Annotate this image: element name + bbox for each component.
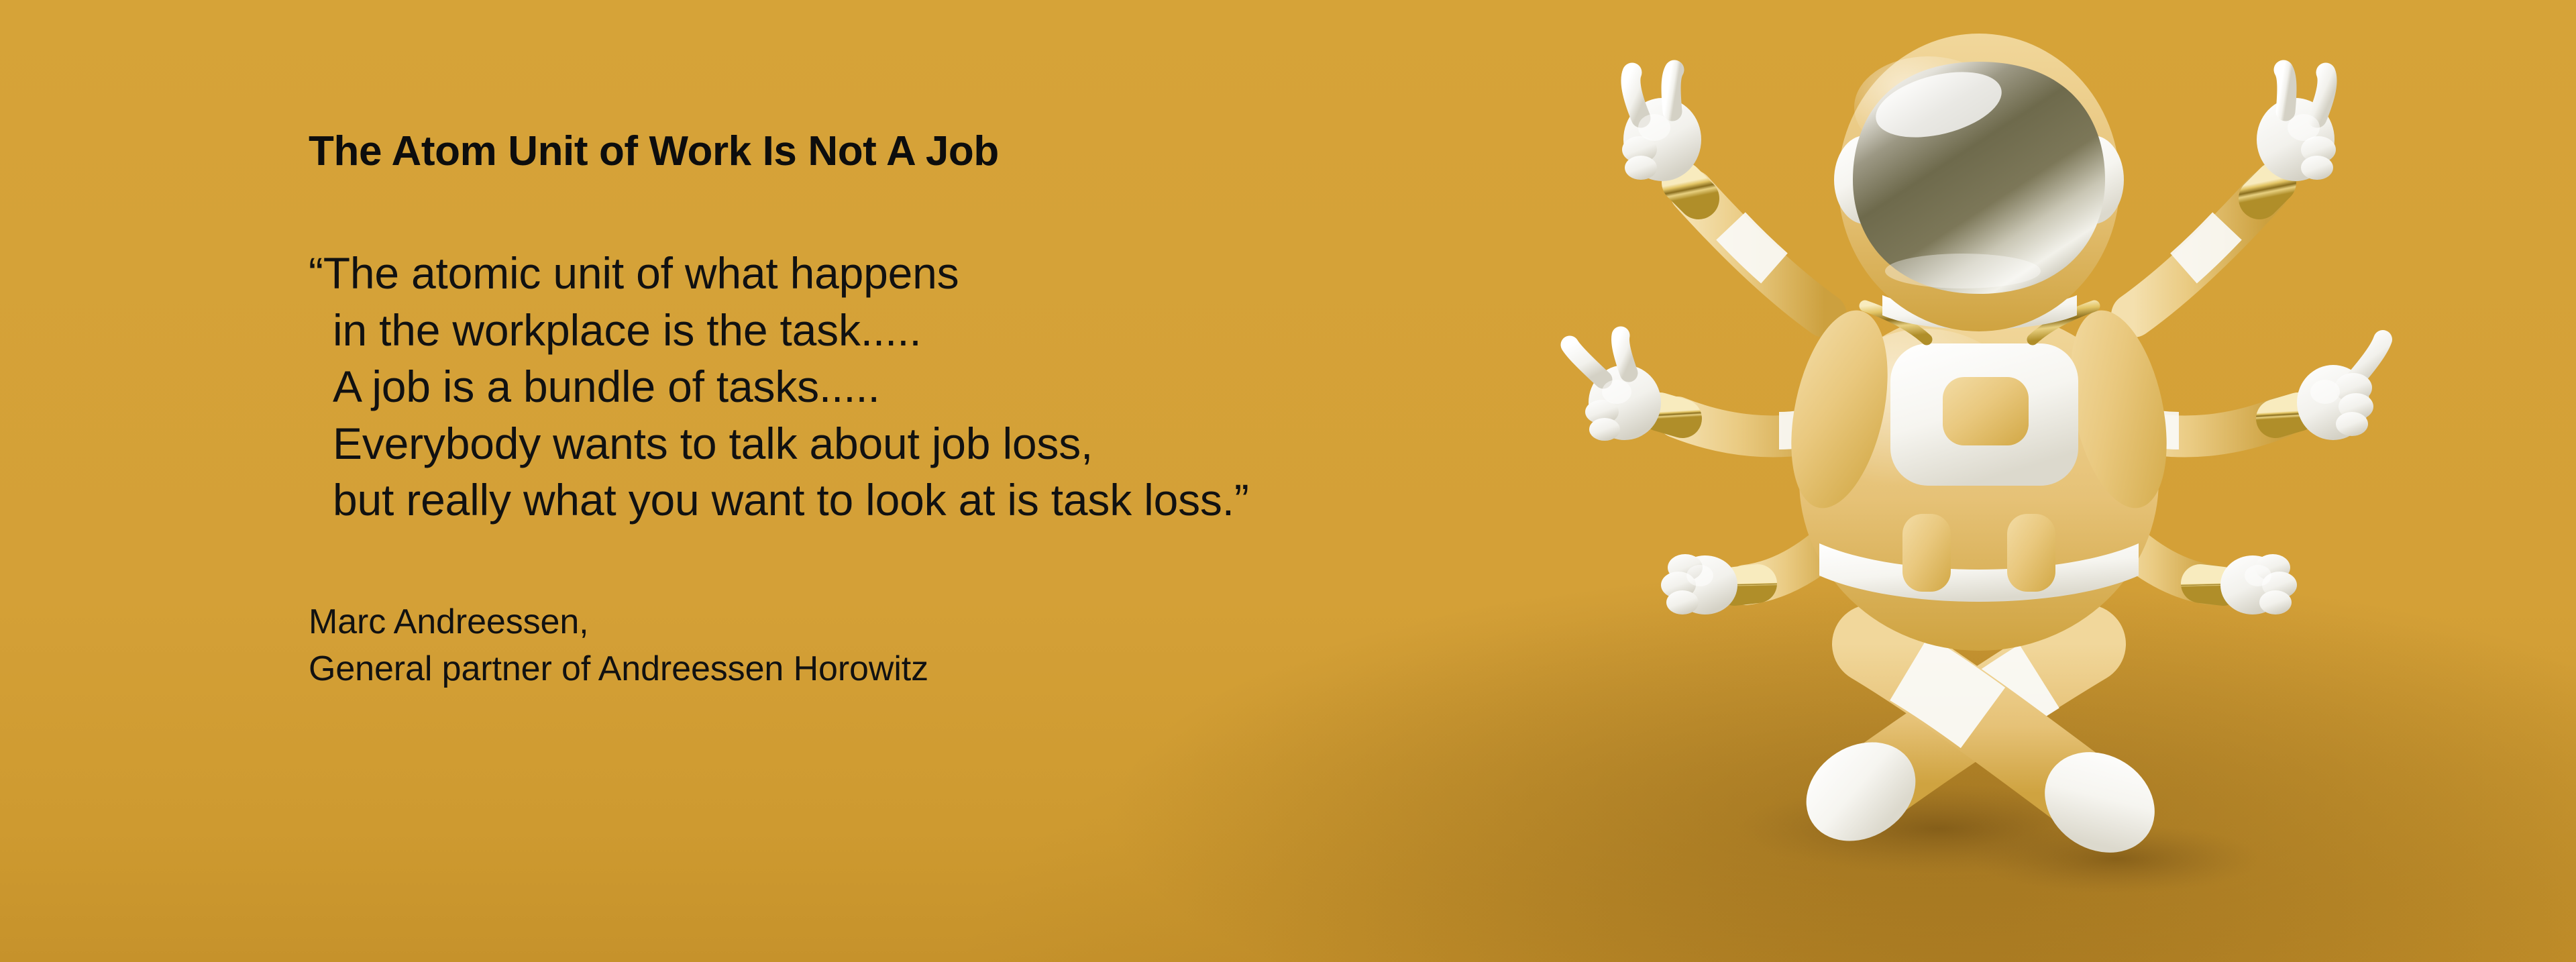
astronaut-upper-left-arm — [1682, 182, 1825, 315]
quote-line-3: A job is a bundle of tasks..... — [309, 358, 1617, 415]
quote-text-block: The Atom Unit of Work Is Not A Job “The … — [309, 127, 1617, 692]
astronaut-upper-right-glove — [2257, 70, 2336, 181]
quote-body: “The atomic unit of what happens in the … — [309, 245, 1617, 528]
attribution-role: General partner of Andreessen Horowitz — [309, 645, 1617, 692]
astronaut-upper-left-glove — [1622, 70, 1701, 181]
quote-line-5: but really what you want to look at is t… — [309, 472, 1617, 528]
astronaut-middle-left-glove — [1570, 335, 1661, 441]
meditating-astronaut-illustration — [1509, 0, 2449, 962]
astronaut-upper-right-arm — [2133, 182, 2275, 315]
quote-attribution: Marc Andreessen, General partner of Andr… — [309, 598, 1617, 692]
astronaut-lower-right-glove — [2220, 554, 2297, 614]
astronaut-middle-right-glove — [2297, 339, 2383, 440]
quote-line-2: in the workplace is the task..... — [309, 302, 1617, 358]
page-title: The Atom Unit of Work Is Not A Job — [309, 127, 1617, 175]
quote-line-1: “The atomic unit of what happens — [309, 245, 1617, 301]
attribution-name: Marc Andreessen, — [309, 598, 1617, 645]
astronaut-helmet — [1834, 34, 2124, 331]
quote-line-4: Everybody wants to talk about job loss, — [309, 415, 1617, 472]
astronaut-torso — [1775, 295, 2182, 651]
astronaut-lower-left-glove — [1661, 554, 1737, 614]
